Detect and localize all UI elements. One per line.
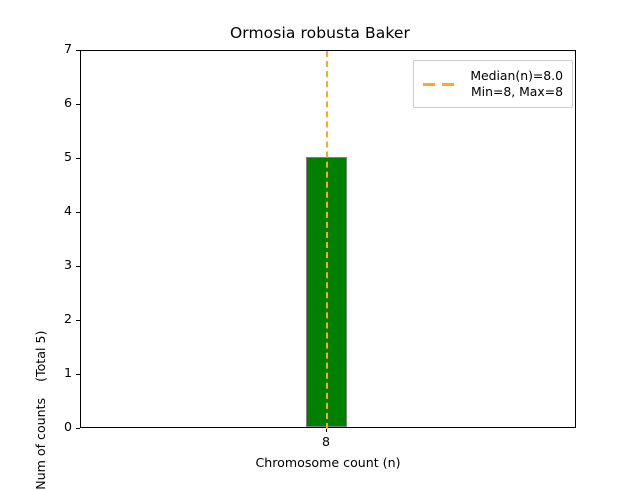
y-tick-label-0: 0 (32, 421, 72, 434)
y-tick-label-7: 7 (32, 43, 72, 56)
x-tick-label-8: 8 (296, 435, 356, 449)
y-tick-mark-0 (76, 428, 80, 429)
x-axis-label: Chromosome count (n) (80, 455, 576, 470)
chart-figure: Ormosia robusta Baker Num of counts (Tot… (0, 0, 640, 480)
chart-title: Ormosia robusta Baker (0, 24, 640, 42)
y-tick-label-3: 3 (32, 259, 72, 272)
y-tick-label-2: 2 (32, 313, 72, 326)
legend-text-block: Median(n)=8.0 Min=8, Max=8 (466, 68, 563, 100)
y-axis-label-container: Num of counts (Total 5) (0, 50, 22, 428)
y-tick-label-1: 1 (32, 367, 72, 380)
legend-label-median: Median(n)=8.0 (470, 68, 563, 84)
legend-entry-median: Median(n)=8.0 Min=8, Max=8 (423, 68, 563, 100)
y-tick-label-6: 6 (32, 97, 72, 110)
y-tick-label-4: 4 (32, 205, 72, 218)
legend: Median(n)=8.0 Min=8, Max=8 (413, 60, 573, 108)
y-tick-label-5: 5 (32, 151, 72, 164)
dashed-line-icon (423, 78, 457, 90)
y-axis-label-text: Num of counts (Total 5) (33, 331, 48, 490)
median-vline (326, 51, 328, 429)
legend-label-minmax: Min=8, Max=8 (471, 84, 563, 100)
